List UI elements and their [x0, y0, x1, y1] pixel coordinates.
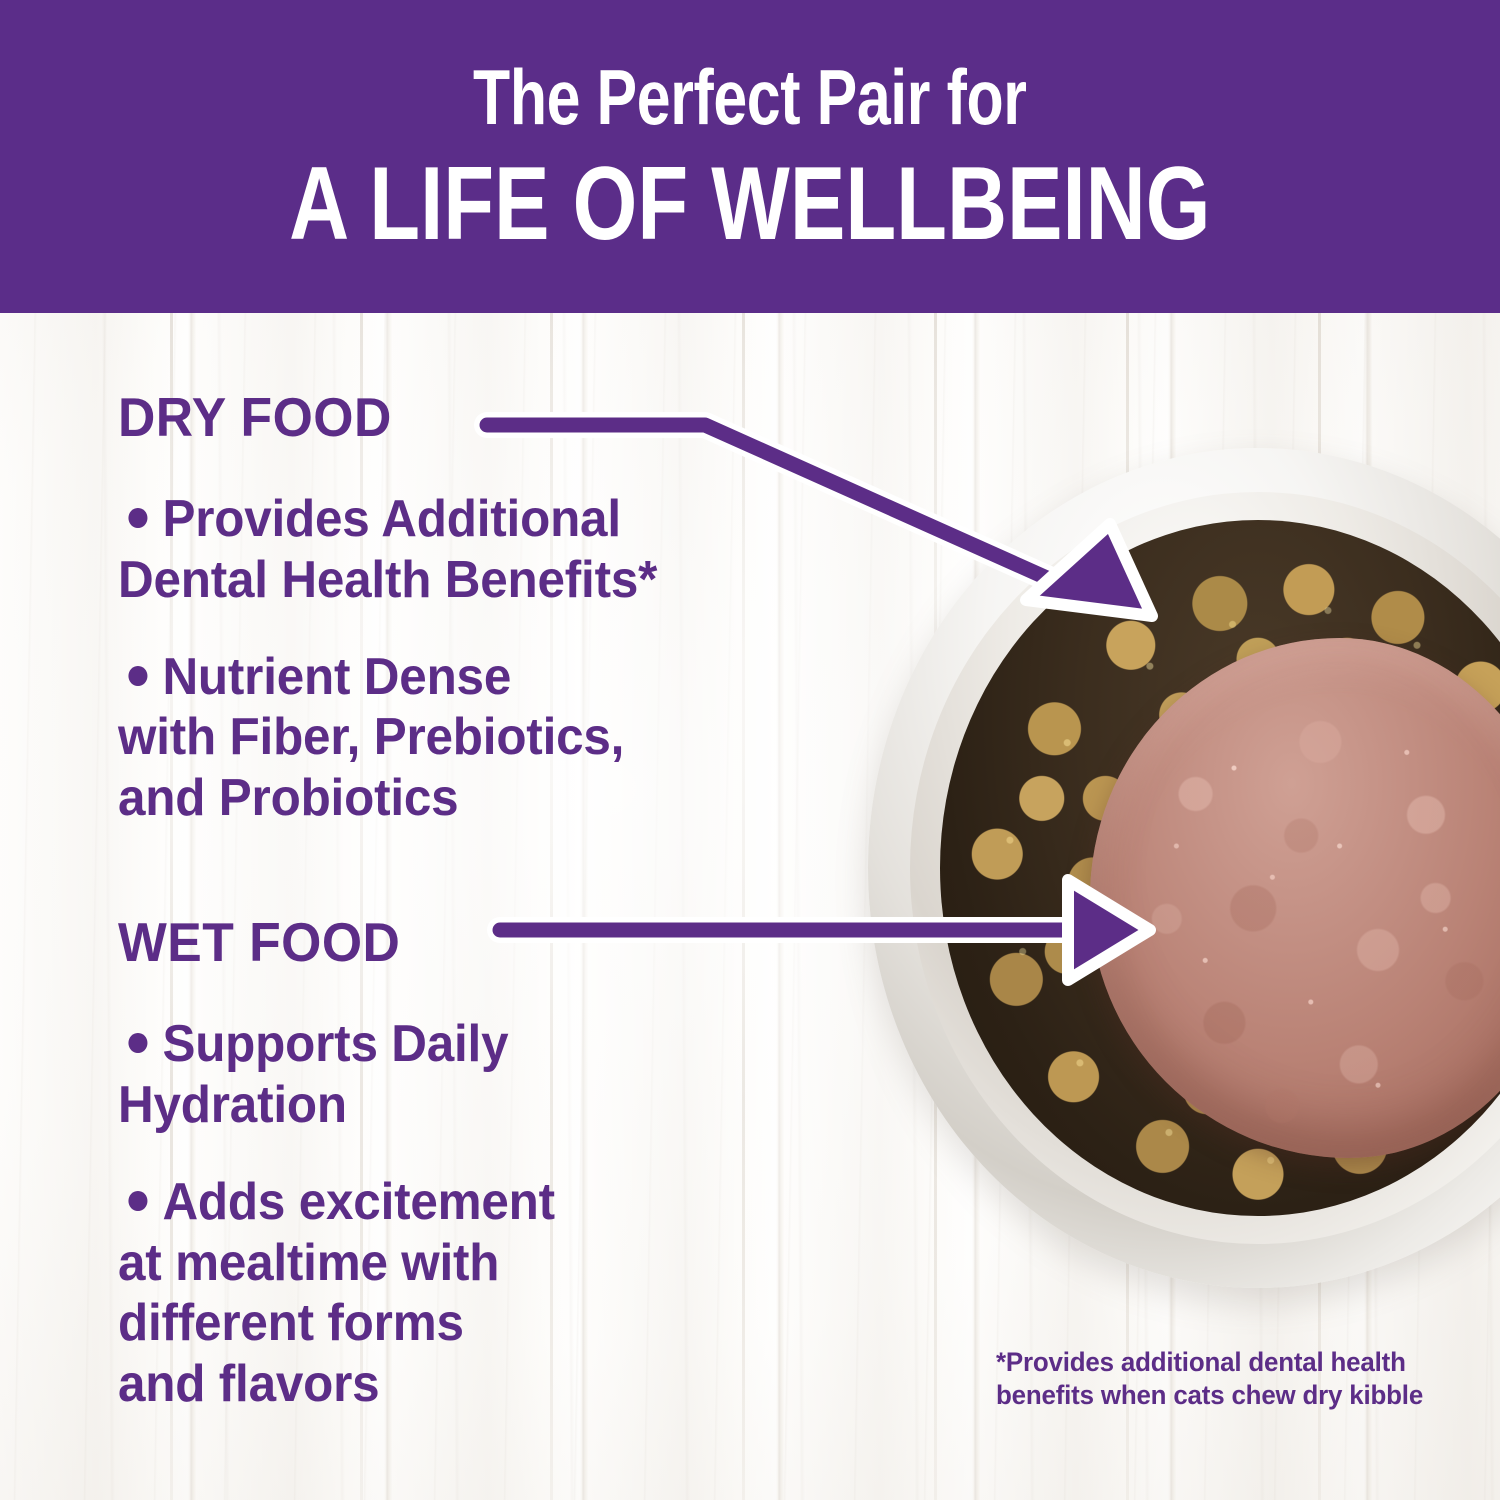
bullet-dry-2: Nutrient Dense with Fiber, Prebiotics, a… — [118, 647, 783, 829]
bullet-dot-icon — [129, 508, 148, 528]
bullet-wet-1: Supports Daily Hydration — [118, 1014, 783, 1136]
section-heading-wet-food: WET FOOD — [118, 915, 776, 970]
bullet-dot-icon — [129, 1033, 148, 1053]
header-subtitle: The Perfect Pair for — [473, 58, 1026, 136]
benefits-content: DRY FOOD Provides Additional Dental Heal… — [118, 390, 818, 1415]
bullet-dot-icon — [129, 1191, 148, 1211]
pet-food-bowl-photo — [868, 448, 1500, 1288]
header-title: A LIFE OF WELLBEING — [289, 152, 1210, 256]
bullet-dry-1: Provides Additional Dental Health Benefi… — [118, 489, 783, 611]
bullet-dry-2-text: Nutrient Dense with Fiber, Prebiotics, a… — [118, 648, 624, 828]
bullet-wet-2: Adds excitement at mealtime with differe… — [118, 1172, 783, 1415]
footnote-text: *Provides additional dental health benef… — [996, 1346, 1447, 1412]
bullet-dot-icon — [129, 666, 148, 686]
section-heading-dry-food: DRY FOOD — [118, 390, 776, 445]
bullet-dry-1-text: Provides Additional Dental Health Benefi… — [118, 490, 657, 609]
infographic-page: The Perfect Pair for A LIFE OF WELLBEING… — [0, 0, 1500, 1500]
header-banner: The Perfect Pair for A LIFE OF WELLBEING — [0, 0, 1500, 313]
bullet-wet-1-text: Supports Daily Hydration — [118, 1015, 508, 1134]
bullet-wet-2-text: Adds excitement at mealtime with differe… — [118, 1173, 555, 1413]
